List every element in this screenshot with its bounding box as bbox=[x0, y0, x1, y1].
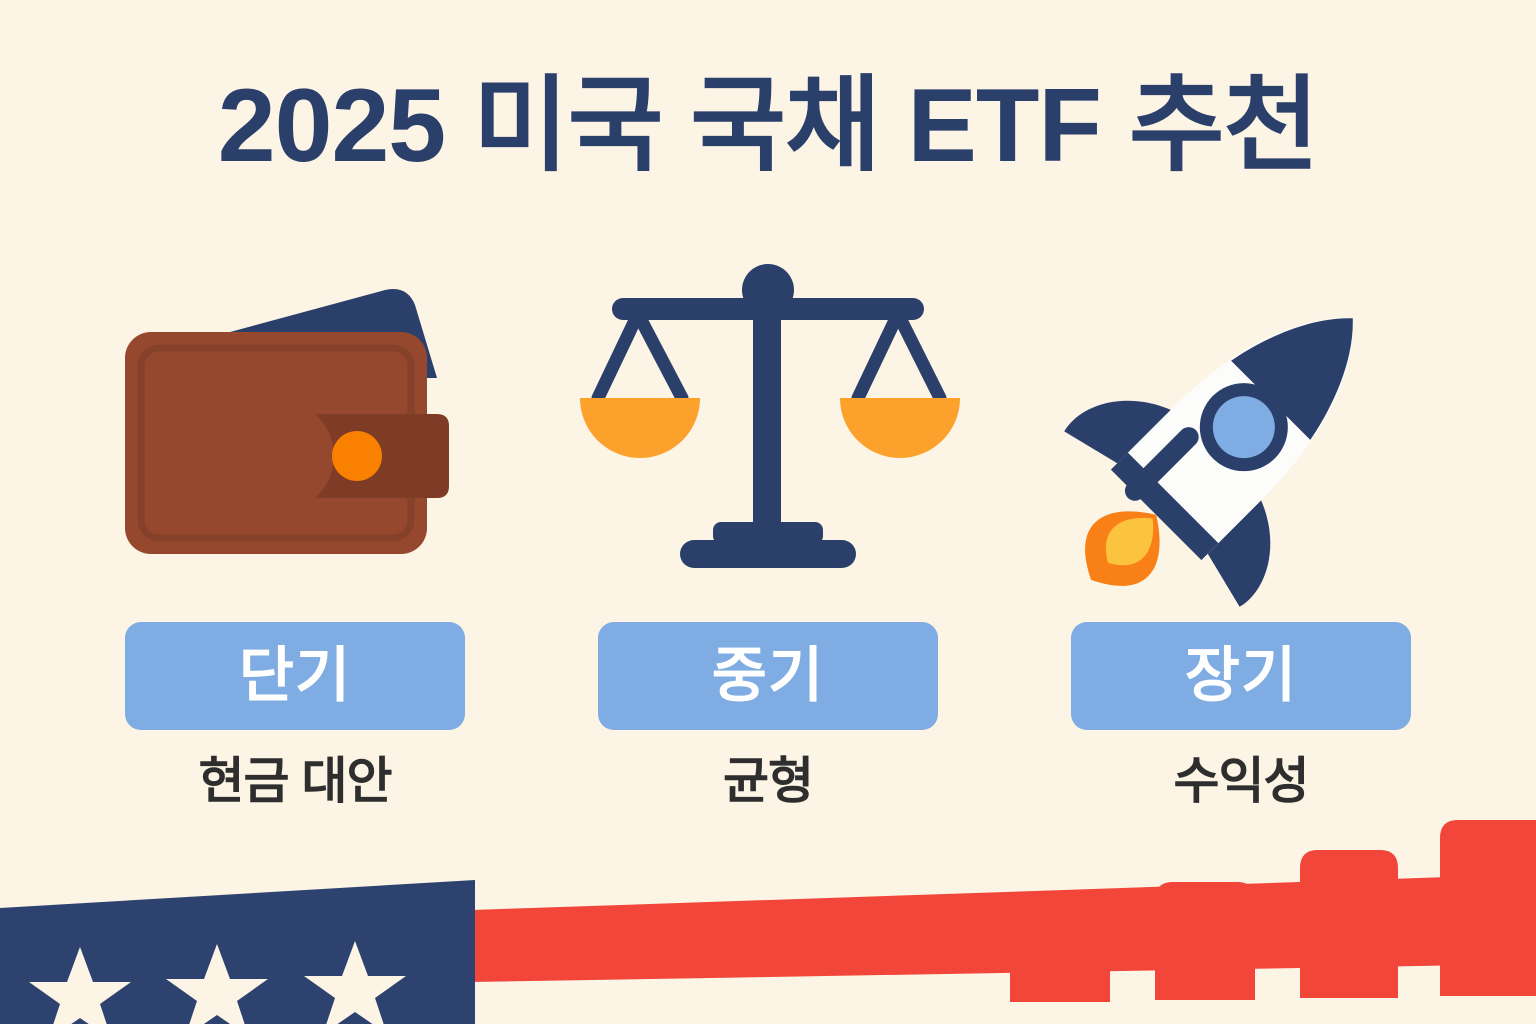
badge-mid-term-label: 중기 bbox=[712, 646, 824, 706]
balance-scale-icon bbox=[558, 250, 978, 610]
column-short-term: 단기 현금 대안 bbox=[85, 250, 505, 806]
caption-short-term: 현금 대안 bbox=[85, 756, 505, 806]
bar-3 bbox=[1300, 850, 1398, 998]
column-mid-term: 중기 균형 bbox=[558, 250, 978, 806]
caption-long-term: 수익성 bbox=[1031, 756, 1451, 806]
bar-1 bbox=[1010, 914, 1110, 1002]
rocket-icon bbox=[1031, 250, 1451, 610]
infographic-poster: 2025 미국 국채 ETF 추천 단기 현금 대안 bbox=[0, 0, 1536, 1024]
badge-mid-term[interactable]: 중기 bbox=[598, 622, 938, 730]
badge-short-term[interactable]: 단기 bbox=[125, 622, 465, 730]
bar-4 bbox=[1440, 820, 1536, 996]
page-title: 2025 미국 국채 ETF 추천 bbox=[0, 74, 1536, 178]
badge-long-term[interactable]: 장기 bbox=[1071, 622, 1411, 730]
badge-short-term-label: 단기 bbox=[239, 646, 351, 706]
caption-mid-term: 균형 bbox=[558, 756, 978, 806]
wallet-icon-stage bbox=[85, 250, 505, 610]
column-long-term: 장기 수익성 bbox=[1031, 250, 1451, 806]
badge-long-term-label: 장기 bbox=[1185, 646, 1297, 706]
flag-and-bar-chart-band bbox=[0, 804, 1536, 1024]
bar-2 bbox=[1155, 882, 1255, 1000]
balance-scale-icon-stage bbox=[558, 250, 978, 610]
rocket-icon-stage bbox=[1031, 250, 1451, 610]
wallet-icon bbox=[85, 250, 505, 610]
